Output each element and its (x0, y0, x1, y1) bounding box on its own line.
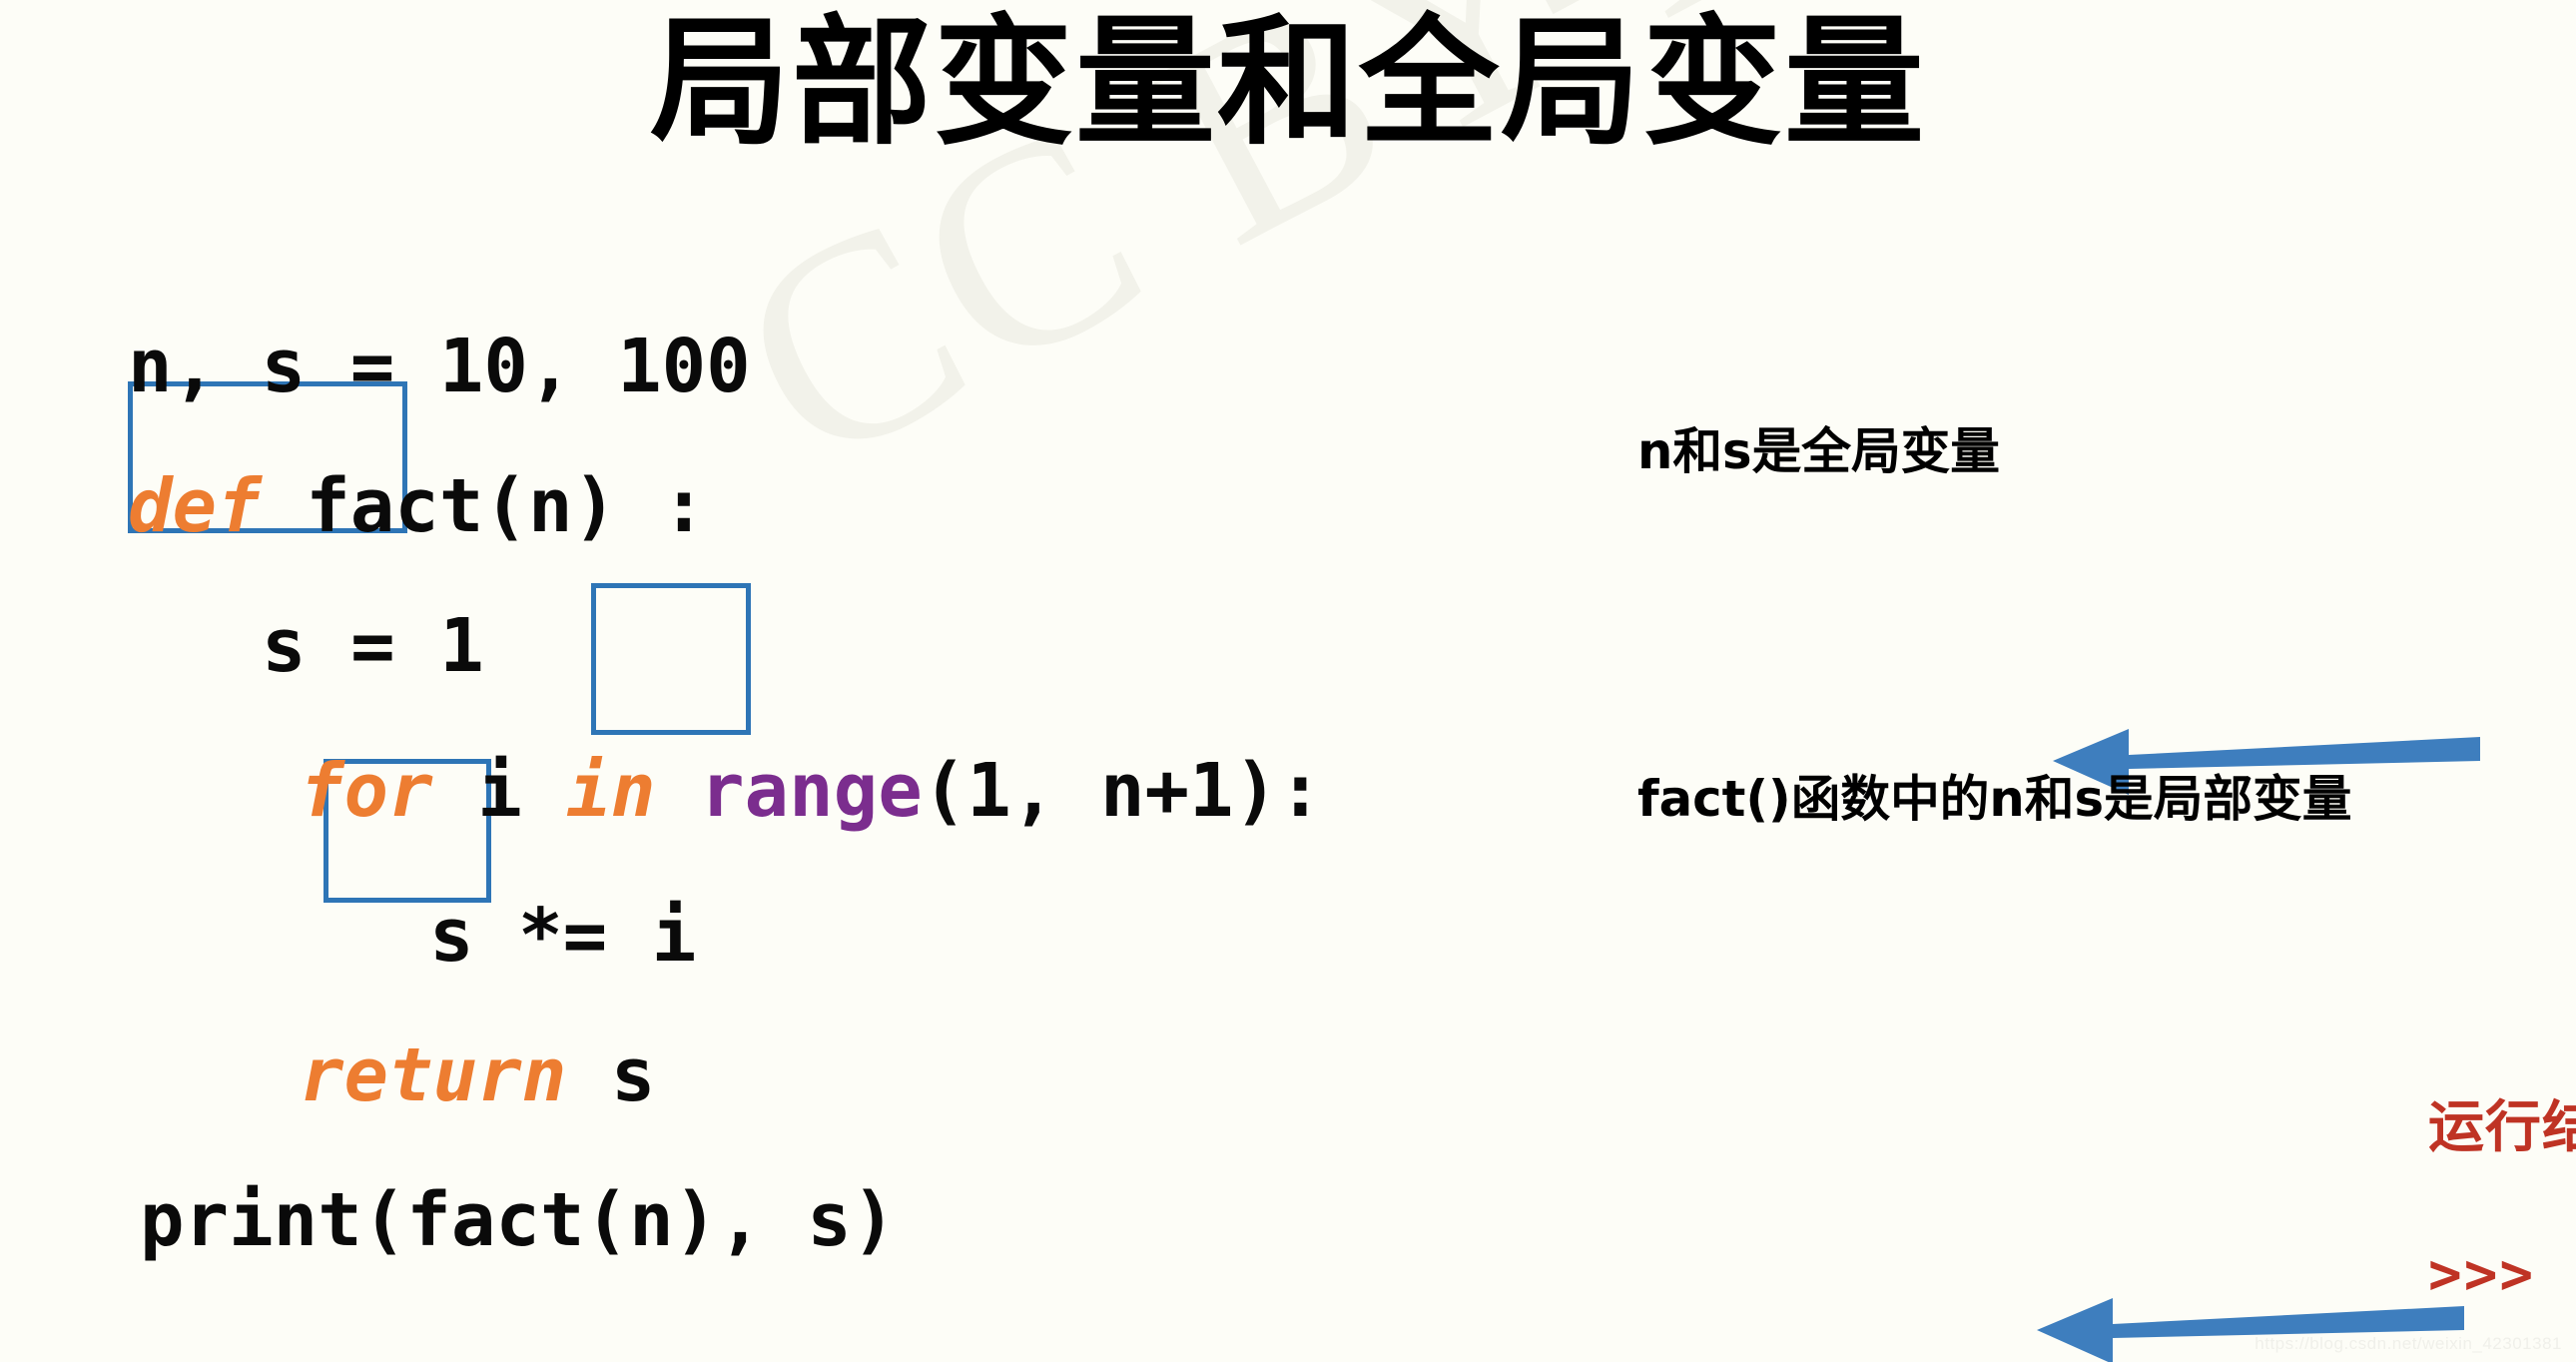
code-token-local-s: s (262, 603, 307, 689)
code-token-loop-var: i (433, 748, 567, 834)
code-token-s-init-rest: = 1 (307, 603, 484, 689)
code-token-return-keyword: return (300, 1032, 566, 1118)
annotation-local: fact()函数中的n和s是局部变量 (1637, 759, 2351, 831)
result-prompt: >>> (2428, 1242, 2535, 1307)
code-token-assign-rest: = 10, 100 (306, 324, 751, 409)
page-title: 局部变量和全局变量 (0, 6, 2576, 163)
code-token-param: (n) (483, 463, 617, 549)
highlight-box-param-n (591, 583, 751, 735)
code-line-assign: n, s = 10, 100 (128, 330, 751, 403)
code-line-s-init: s = 1 (262, 609, 484, 683)
code-line-for: for i in range(1, n+1): (300, 754, 1323, 828)
code-line-return: return s (300, 1038, 655, 1112)
code-token-return-value: s (566, 1032, 655, 1118)
code-line-def: def fact(n) : (128, 469, 706, 543)
code-line-print: print(fact(n), s) (140, 1183, 896, 1257)
left-arrow-icon-local (2021, 1278, 2480, 1362)
code-line-mult: s *= i (429, 899, 696, 973)
code-token-colon: : (617, 463, 706, 549)
code-token-def-keyword: def (128, 463, 262, 549)
code-token-print: print(fact(n), s) (140, 1177, 896, 1263)
code-token-space (655, 748, 700, 834)
result-panel-title: 运行结果 (2428, 1082, 2576, 1163)
slide-canvas: CC BY-NC-SA 4.0 嵩天 https://blog.csdn.net… (0, 0, 2576, 1362)
code-token-ns: n, s (128, 324, 306, 409)
code-token-func-name: fact (262, 463, 484, 549)
code-token-range-args: (1, n+1): (923, 748, 1323, 834)
code-token-range-builtin: range (700, 748, 923, 834)
code-token-mult: s *= i (429, 893, 696, 979)
code-token-for-keyword: for (300, 748, 433, 834)
annotation-global-top: n和s是全局变量 (1637, 411, 2000, 483)
code-token-in-keyword: in (566, 748, 655, 834)
